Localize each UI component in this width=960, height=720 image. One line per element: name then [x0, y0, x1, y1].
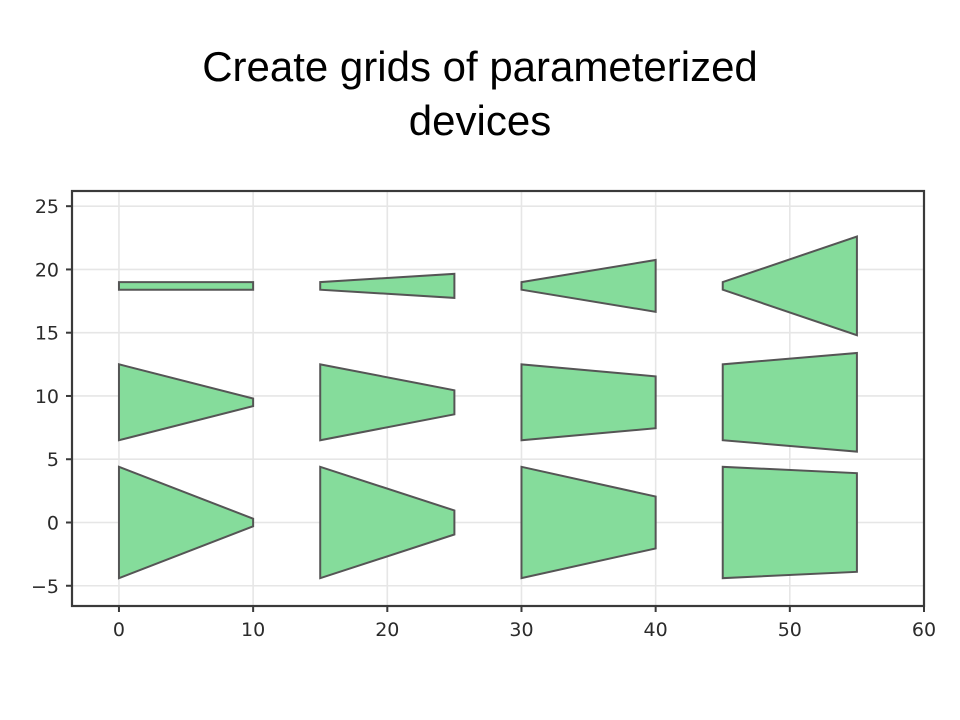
xtick-label-4: 40 — [644, 619, 668, 641]
xtick-label-1: 10 — [241, 619, 265, 641]
page-title-line-1: Create grids of parameterized — [0, 40, 960, 94]
ytick-label-0: −5 — [31, 576, 59, 598]
ytick-label-5: 20 — [35, 259, 59, 281]
xtick-label-2: 20 — [375, 619, 399, 641]
ytick-label-4: 15 — [35, 323, 59, 345]
xtick-label-5: 50 — [778, 619, 802, 641]
chart-figure: 0102030405060−50510152025 — [0, 160, 960, 660]
page-title: Create grids of parameterized devices — [0, 40, 960, 148]
device-r2-c3 — [723, 467, 857, 578]
ytick-label-1: 0 — [47, 512, 59, 534]
ytick-label-2: 5 — [47, 449, 59, 471]
page-title-line-2: devices — [0, 94, 960, 148]
device-r1-c2 — [521, 364, 655, 440]
slide-canvas: Create grids of parameterized devices 01… — [0, 0, 960, 720]
xtick-label-6: 60 — [912, 619, 936, 641]
ytick-label-3: 10 — [35, 386, 59, 408]
device-r1-c3 — [723, 353, 857, 452]
xtick-label-3: 30 — [509, 619, 533, 641]
device-grid-plot: 0102030405060−50510152025 — [0, 160, 960, 660]
ytick-label-6: 25 — [35, 196, 59, 218]
xtick-label-0: 0 — [113, 619, 125, 641]
device-r0-c0 — [119, 282, 253, 290]
